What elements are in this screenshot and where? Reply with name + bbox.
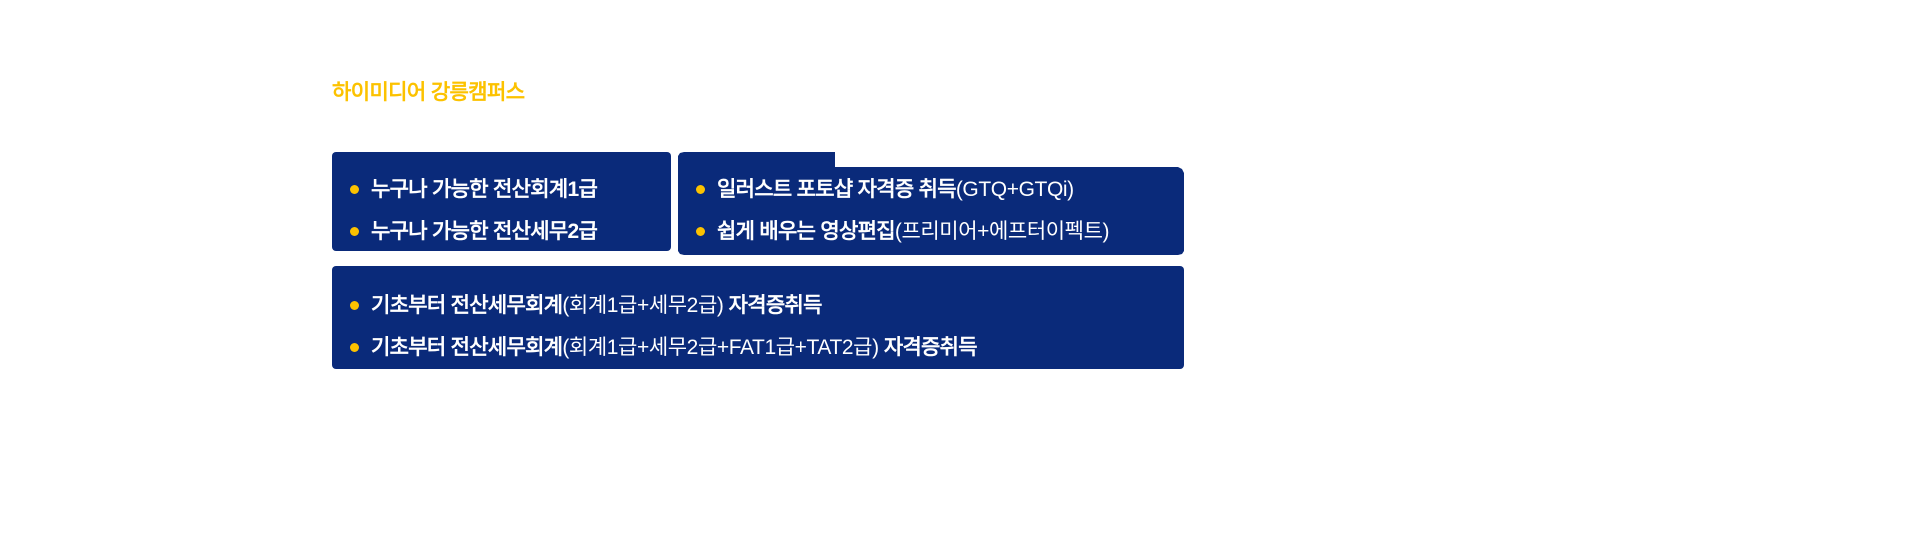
text-segment-suffix: 자격증취득 <box>723 294 821 317</box>
bullet-dot-icon <box>350 185 359 194</box>
text-segment: 일러스트 포토샵 자격증 취득 <box>717 178 956 201</box>
list-item-label: 누구나 가능한 전산세무2급 <box>371 221 597 242</box>
list-item-label: 일러스트 포토샵 자격증 취득(GTQ+GTQi) <box>717 179 1074 200</box>
list-item[interactable]: 기초부터 전산세무회계(회계1급+세무2급+FAT1급+TAT2급) 자격증취득 <box>350 326 1184 368</box>
list-item[interactable]: 누구나 가능한 전산세무2급 <box>350 210 671 252</box>
text-segment-detail: (GTQ+GTQi) <box>956 178 1074 201</box>
list-item[interactable]: 누구나 가능한 전산회계1급 <box>350 168 671 210</box>
text-segment: 누구나 가능한 전산세무2급 <box>371 220 597 243</box>
bullet-dot-icon <box>696 185 705 194</box>
text-segment-detail: (프리미어+에프터이펙트) <box>895 220 1109 243</box>
list-item-label: 쉽게 배우는 영상편집(프리미어+에프터이펙트) <box>717 221 1109 242</box>
promo-banner: 하이미디어 강릉캠퍼스 누구나 가능한 전산회계1급 누구나 가능한 전산세무2… <box>0 0 1920 550</box>
text-segment-detail: (회계1급+세무2급) <box>562 294 723 317</box>
list-item-label: 누구나 가능한 전산회계1급 <box>371 179 597 200</box>
list-item[interactable]: 기초부터 전산세무회계(회계1급+세무2급) 자격증취득 <box>350 284 1184 326</box>
bullet-dot-icon <box>350 301 359 310</box>
list-item[interactable]: 쉽게 배우는 영상편집(프리미어+에프터이펙트) <box>696 210 1184 252</box>
list-item-label: 기초부터 전산세무회계(회계1급+세무2급+FAT1급+TAT2급) 자격증취득 <box>371 337 977 358</box>
text-segment: 기초부터 전산세무회계 <box>371 294 562 317</box>
text-segment: 기초부터 전산세무회계 <box>371 336 562 359</box>
bullet-dot-icon <box>696 227 705 236</box>
panel-tax-accounting-packages: 기초부터 전산세무회계(회계1급+세무2급) 자격증취득 기초부터 전산세무회계… <box>332 266 1184 369</box>
bullet-dot-icon <box>350 343 359 352</box>
text-segment-suffix: 자격증취득 <box>879 336 977 359</box>
text-segment: 쉽게 배우는 영상편집 <box>717 220 895 243</box>
list-item-label: 기초부터 전산세무회계(회계1급+세무2급) 자격증취득 <box>371 295 822 316</box>
panel-accounting-courses: 누구나 가능한 전산회계1급 누구나 가능한 전산세무2급 <box>332 152 671 251</box>
list-item[interactable]: 일러스트 포토샵 자격증 취득(GTQ+GTQi) <box>696 168 1184 210</box>
text-segment: 누구나 가능한 전산회계1급 <box>371 178 597 201</box>
panel-design-video-courses: 일러스트 포토샵 자격증 취득(GTQ+GTQi) 쉽게 배우는 영상편집(프리… <box>678 152 1184 255</box>
campus-title: 하이미디어 강릉캠퍼스 <box>332 76 524 106</box>
text-segment-detail: (회계1급+세무2급+FAT1급+TAT2급) <box>562 336 878 359</box>
bullet-dot-icon <box>350 227 359 236</box>
